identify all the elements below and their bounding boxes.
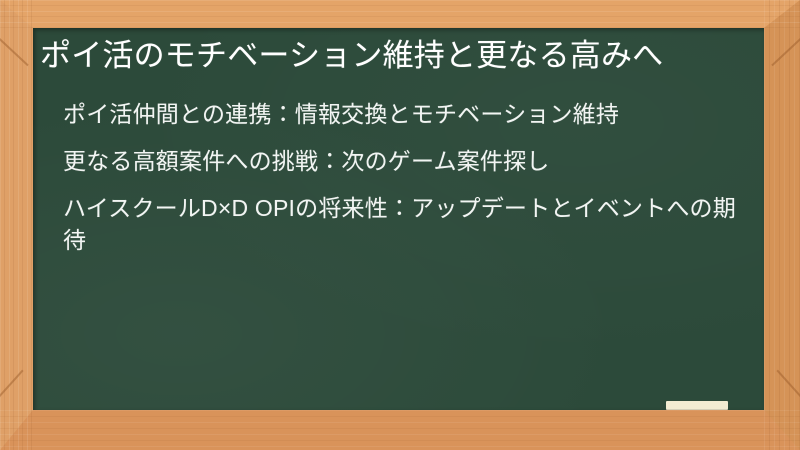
- bullet-item-3: ハイスクールD×D OPIの将来性：アップデートとイベントへの期待: [63, 192, 746, 257]
- bullet-list: ポイ活仲間との連携：情報交換とモチベーション維持 更なる高額案件への挑戦：次のゲ…: [38, 98, 750, 257]
- bullet-item-2: 更なる高額案件への挑戦：次のゲーム案件探し: [63, 145, 746, 178]
- blackboard-slide: ポイ活のモチベーション維持と更なる高みへ ポイ活仲間との連携：情報交換とモチベー…: [0, 0, 800, 450]
- chalkboard-surface: ポイ活のモチベーション維持と更なる高みへ ポイ活仲間との連携：情報交換とモチベー…: [33, 28, 764, 410]
- bullet-item-1: ポイ活仲間との連携：情報交換とモチベーション維持: [63, 98, 746, 131]
- chalk-stick-icon: [666, 401, 728, 410]
- slide-title: ポイ活のモチベーション維持と更なる高みへ: [38, 36, 750, 76]
- chalkboard-content: ポイ活のモチベーション維持と更なる高みへ ポイ活仲間との連携：情報交換とモチベー…: [33, 28, 764, 410]
